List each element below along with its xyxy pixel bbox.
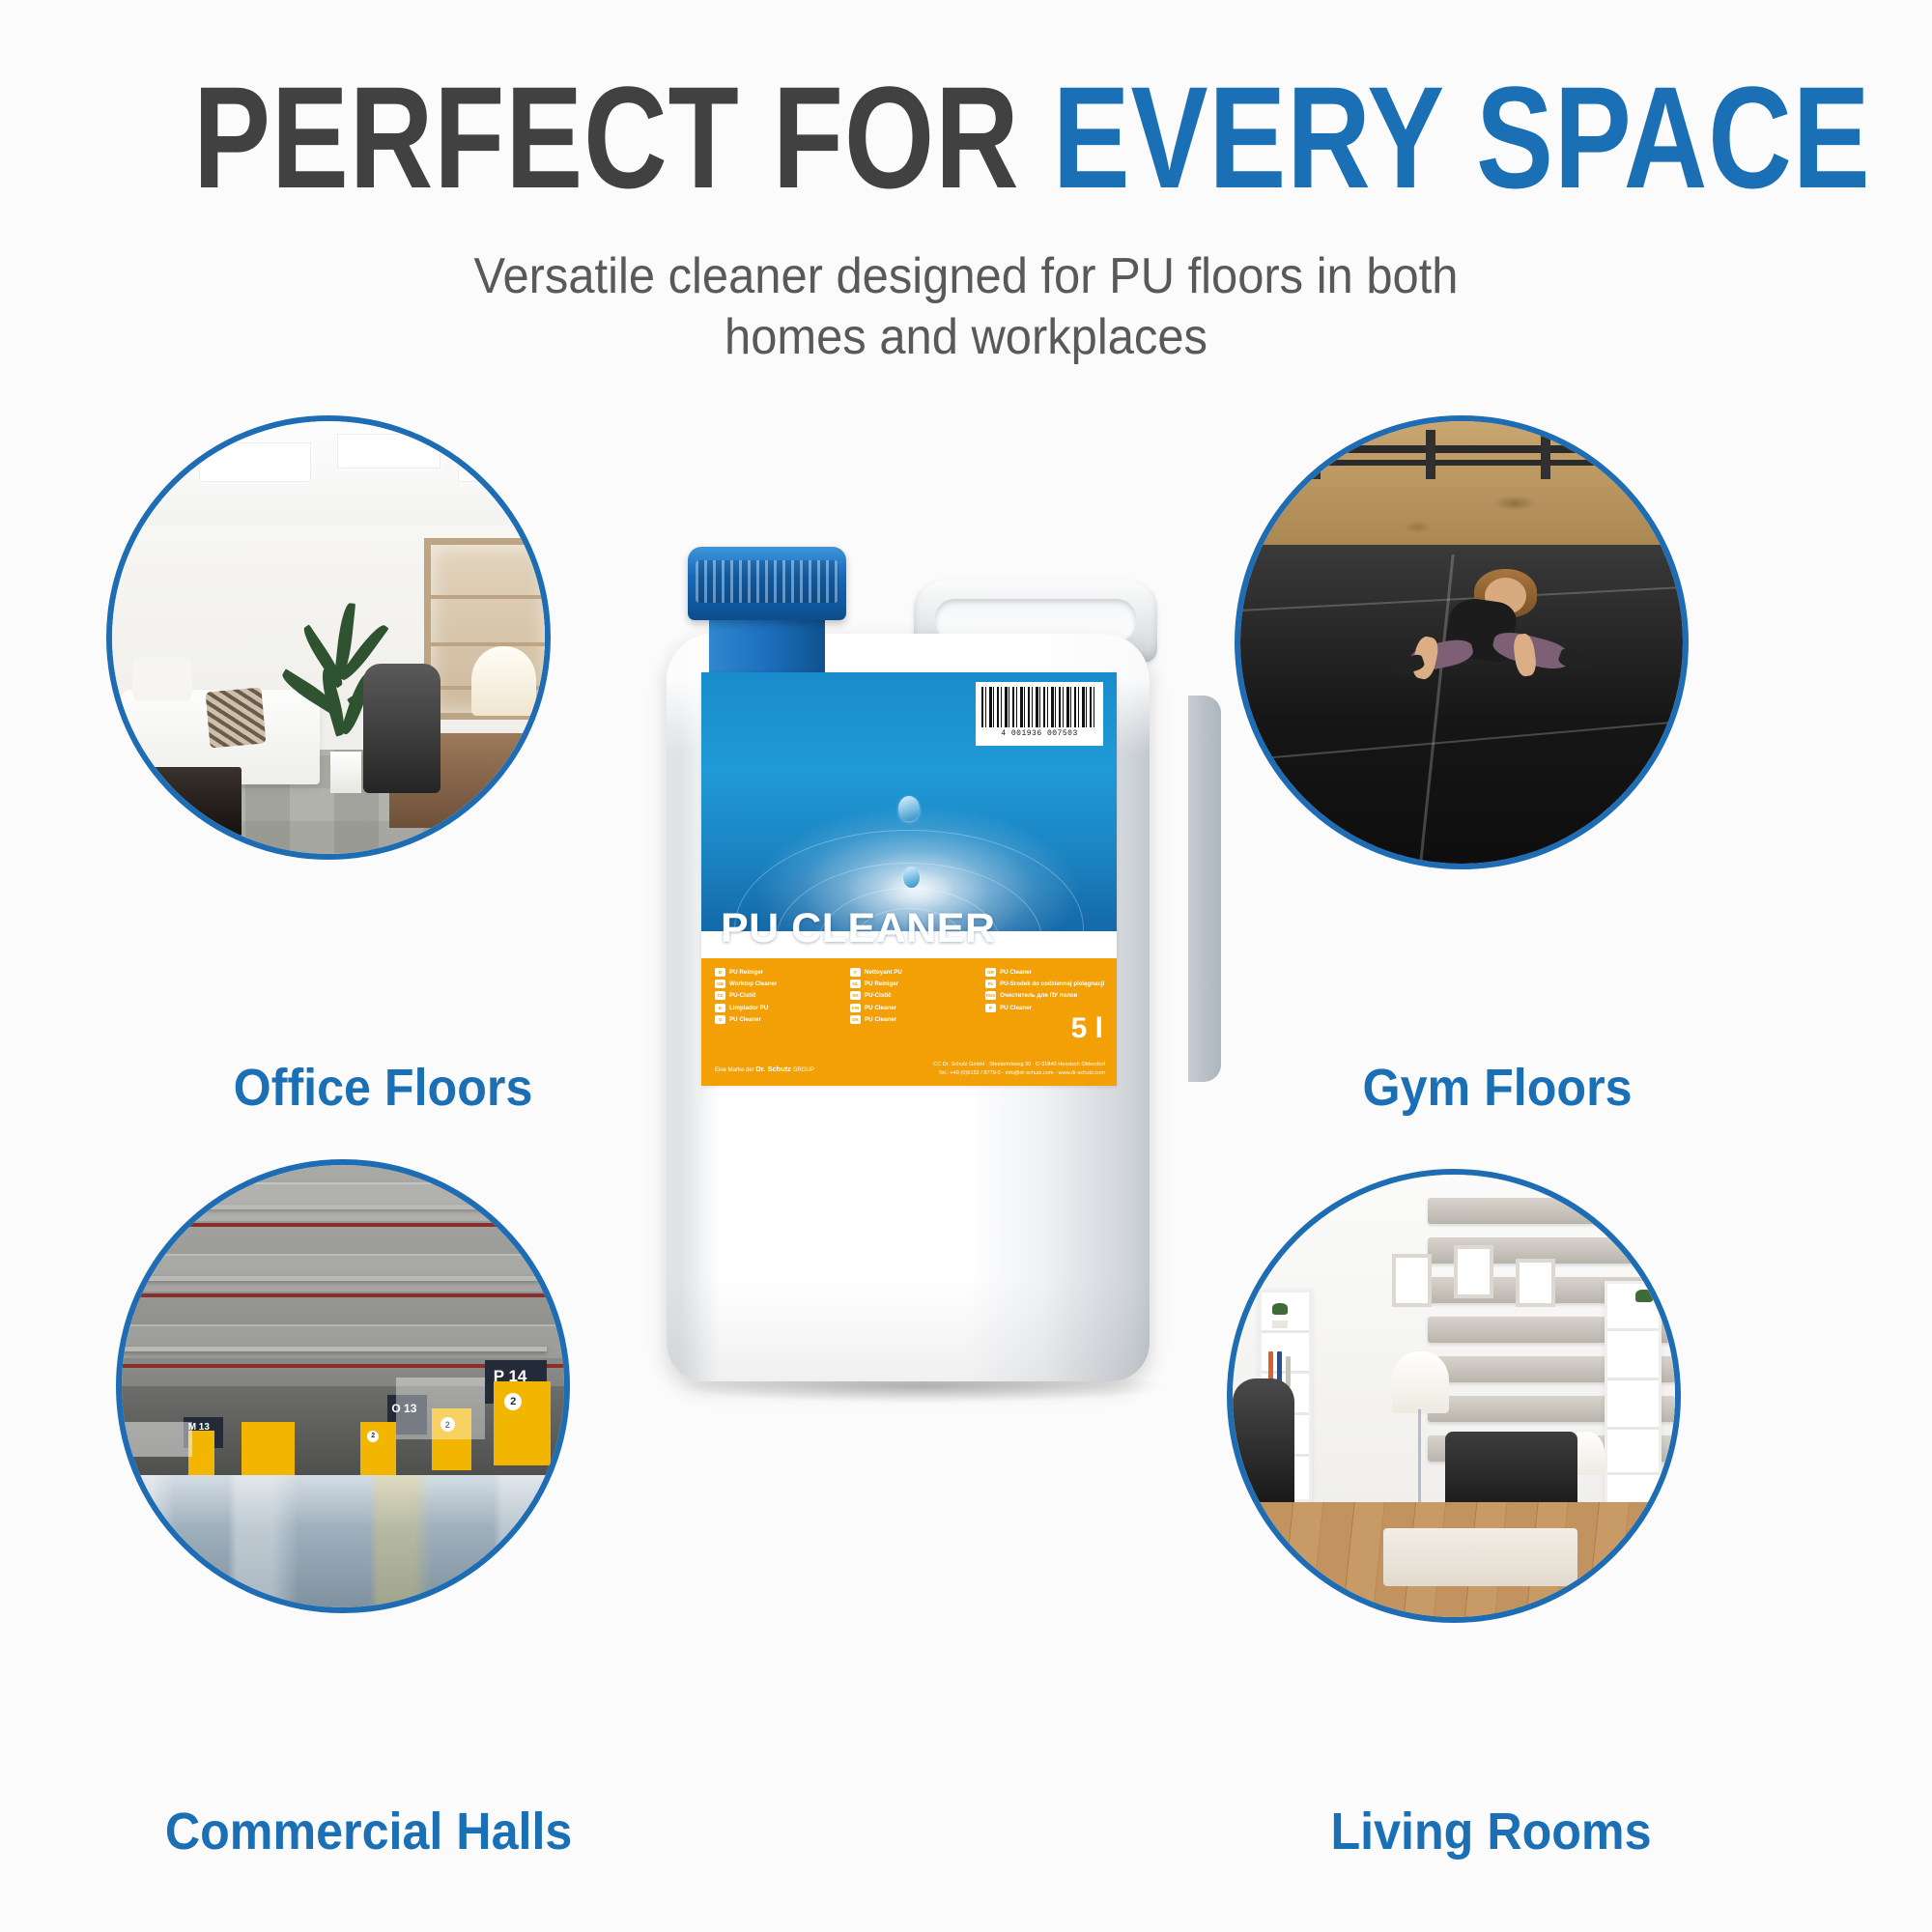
office-scene bbox=[112, 421, 545, 854]
hall-yellow-door bbox=[360, 1422, 396, 1475]
company-address: CC Dr. Schutz GmbH · Steinbrinkweg 30 · … bbox=[933, 1061, 1105, 1077]
living-bookshelf bbox=[1605, 1281, 1662, 1511]
language-text: Nettoyant PU bbox=[865, 969, 902, 976]
circle-image-office-floors bbox=[106, 415, 551, 860]
living-plant bbox=[1635, 1290, 1653, 1302]
living-scene bbox=[1233, 1175, 1675, 1617]
hall-yellow-door bbox=[494, 1381, 552, 1465]
marke-brand: Dr. Schutz bbox=[755, 1065, 791, 1073]
language-code: P bbox=[985, 1004, 996, 1012]
hall-red-pipe bbox=[122, 1223, 564, 1227]
marke-suffix: GROUP bbox=[793, 1067, 814, 1073]
language-row: FINPU Cleaner bbox=[850, 1004, 972, 1012]
hall-scene: O 13 P 14 M 13 2 2 2 bbox=[122, 1165, 564, 1607]
language-code: S bbox=[715, 1015, 725, 1024]
office-table-lamp bbox=[471, 646, 536, 716]
gym-person-exercising bbox=[1400, 572, 1585, 714]
language-code: DK bbox=[850, 1015, 861, 1024]
living-plant-pot bbox=[1272, 1321, 1288, 1328]
language-text: PU Cleaner bbox=[1000, 1005, 1032, 1011]
language-row: ELimpiador PU bbox=[715, 1004, 837, 1012]
language-code: GB bbox=[715, 980, 725, 988]
ceiling-light-panel bbox=[337, 434, 441, 469]
bottle-cap bbox=[688, 547, 846, 620]
language-code: F bbox=[850, 968, 861, 977]
language-column: DPU Reiniger GBWorktop Cleaner CZPU-Čist… bbox=[715, 968, 837, 1027]
language-code: SK bbox=[850, 991, 861, 1000]
language-text: PU Cleaner bbox=[865, 1016, 896, 1023]
subhead-line-2: homes and workplaces bbox=[58, 307, 1874, 368]
hall-duct bbox=[157, 1205, 529, 1209]
hall-bay-number: 2 bbox=[504, 1393, 522, 1410]
language-row: DPU Reiniger bbox=[715, 968, 837, 977]
language-text: PU-Čistič bbox=[729, 992, 756, 999]
caption-commercial-halls: Commercial Halls bbox=[165, 1802, 572, 1861]
water-drop bbox=[903, 867, 920, 888]
office-cushion bbox=[205, 687, 266, 748]
gym-scene bbox=[1240, 421, 1683, 864]
barcode-bars bbox=[981, 687, 1097, 727]
language-text: PU Reiniger bbox=[729, 969, 763, 976]
language-row: GBWorktop Cleaner bbox=[715, 980, 837, 988]
language-row: GRPU Cleaner bbox=[985, 968, 1107, 977]
gym-support-bar bbox=[1240, 460, 1683, 466]
living-sofa bbox=[1445, 1432, 1577, 1511]
language-code: RUS bbox=[985, 991, 996, 1000]
language-row: PPU Cleaner bbox=[985, 1004, 1107, 1012]
language-row: SPU Cleaner bbox=[715, 1015, 837, 1024]
language-row: SKPU-Čistič bbox=[850, 991, 972, 1000]
language-code: FIN bbox=[850, 1004, 861, 1012]
language-text: PU Cleaner bbox=[1000, 969, 1032, 976]
language-text: Очиститель для ПУ полов bbox=[1000, 992, 1077, 999]
living-picture-frame bbox=[1392, 1254, 1432, 1307]
hall-shelving-lights bbox=[122, 1422, 192, 1458]
hall-duct bbox=[122, 1347, 547, 1351]
ceiling-light-panel bbox=[458, 447, 545, 482]
language-column: FNettoyant PU NLPU Reiniger SKPU-Čistič … bbox=[850, 968, 972, 1027]
language-text: Limpiador PU bbox=[729, 1005, 768, 1011]
language-text: PU Cleaner bbox=[729, 1016, 761, 1023]
language-row: PLPU-Środek do codziennej pielęgnacji bbox=[985, 980, 1107, 988]
language-code: GR bbox=[985, 968, 996, 977]
volume-label: 5 l bbox=[1071, 1012, 1103, 1045]
label-orange-panel: DPU Reiniger GBWorktop Cleaner CZPU-Čist… bbox=[701, 958, 1117, 1086]
office-plant-pot bbox=[330, 752, 361, 793]
language-row: CZPU-Čistič bbox=[715, 991, 837, 1000]
language-text: PU Reiniger bbox=[865, 980, 898, 987]
language-text: PU Cleaner bbox=[865, 1005, 896, 1011]
barcode: 4 001936 007503 bbox=[976, 682, 1103, 746]
page-subhead: Versatile cleaner designed for PU floors… bbox=[58, 246, 1874, 369]
ceiling-light-panel bbox=[199, 442, 311, 481]
barcode-digits: 4 001936 007503 bbox=[981, 729, 1097, 738]
living-floor-lamp-shade bbox=[1392, 1351, 1450, 1413]
hall-epoxy-floor bbox=[122, 1475, 564, 1607]
circle-image-gym-floors bbox=[1235, 415, 1689, 869]
circle-image-commercial-halls: O 13 P 14 M 13 2 2 2 bbox=[116, 1159, 570, 1613]
gym-pullup-bar bbox=[1240, 445, 1683, 453]
address-line-1: CC Dr. Schutz GmbH · Steinbrinkweg 30 · … bbox=[933, 1061, 1105, 1068]
living-book bbox=[1286, 1356, 1291, 1387]
hall-red-pipe bbox=[122, 1293, 564, 1297]
language-row: RUSОчиститель для ПУ полов bbox=[985, 991, 1107, 1000]
bottle-side-panel bbox=[1188, 696, 1221, 1082]
caption-office-floors: Office Floors bbox=[234, 1058, 533, 1118]
language-code: PL bbox=[985, 980, 996, 988]
language-row: DKPU Cleaner bbox=[850, 1015, 972, 1024]
subhead-line-1: Versatile cleaner designed for PU floors… bbox=[58, 246, 1874, 307]
language-row: NLPU Reiniger bbox=[850, 980, 972, 988]
hall-shelving-lights bbox=[396, 1378, 485, 1439]
language-text: PU-Środek do codziennej pielęgnacji bbox=[1000, 980, 1104, 987]
page-headline: PERFECT FOR EVERY SPACE bbox=[193, 64, 1739, 212]
address-line-2: Tel.: +49 (0)5152 / 8779-0 · info@dr-sch… bbox=[933, 1069, 1105, 1077]
language-code: NL bbox=[850, 980, 861, 988]
hall-bay-number: 2 bbox=[367, 1431, 379, 1442]
headline-part2: EVERY SPACE bbox=[1053, 56, 1871, 218]
hall-duct bbox=[139, 1276, 537, 1281]
language-row: FNettoyant PU bbox=[850, 968, 972, 977]
product-label: Dr. Schutz® 4 001936 007503 PU CLEANER D… bbox=[701, 672, 1117, 1086]
language-text: Worktop Cleaner bbox=[729, 980, 777, 987]
language-code: CZ bbox=[715, 991, 725, 1000]
caption-living-rooms: Living Rooms bbox=[1330, 1802, 1651, 1861]
caption-gym-floors: Gym Floors bbox=[1363, 1058, 1633, 1118]
office-coffee-table bbox=[106, 767, 241, 837]
living-picture-frame bbox=[1454, 1245, 1493, 1298]
living-plant bbox=[1272, 1303, 1288, 1315]
language-list: DPU Reiniger GBWorktop Cleaner CZPU-Čist… bbox=[715, 968, 1107, 1027]
brand-group-line: Eine Marke der Dr. Schutz GROUP bbox=[715, 1065, 814, 1073]
language-text: PU-Čistič bbox=[865, 992, 892, 999]
living-office-chair bbox=[1233, 1378, 1294, 1511]
product-bottle: Dr. Schutz® 4 001936 007503 PU CLEANER D… bbox=[667, 580, 1207, 1381]
marke-prefix: Eine Marke der bbox=[715, 1067, 754, 1073]
header: PERFECT FOR EVERY SPACE Versatile cleane… bbox=[0, 0, 1932, 369]
living-rug bbox=[1383, 1528, 1578, 1586]
office-chair bbox=[363, 664, 441, 793]
headline-part1: PERFECT FOR bbox=[193, 56, 1019, 218]
language-code: D bbox=[715, 968, 725, 977]
circle-image-living-rooms bbox=[1227, 1169, 1681, 1623]
living-picture-frame bbox=[1516, 1259, 1555, 1307]
gym-wall-rig bbox=[1240, 430, 1683, 478]
product-title: PU CLEANER bbox=[721, 905, 996, 952]
language-code: E bbox=[715, 1004, 725, 1012]
